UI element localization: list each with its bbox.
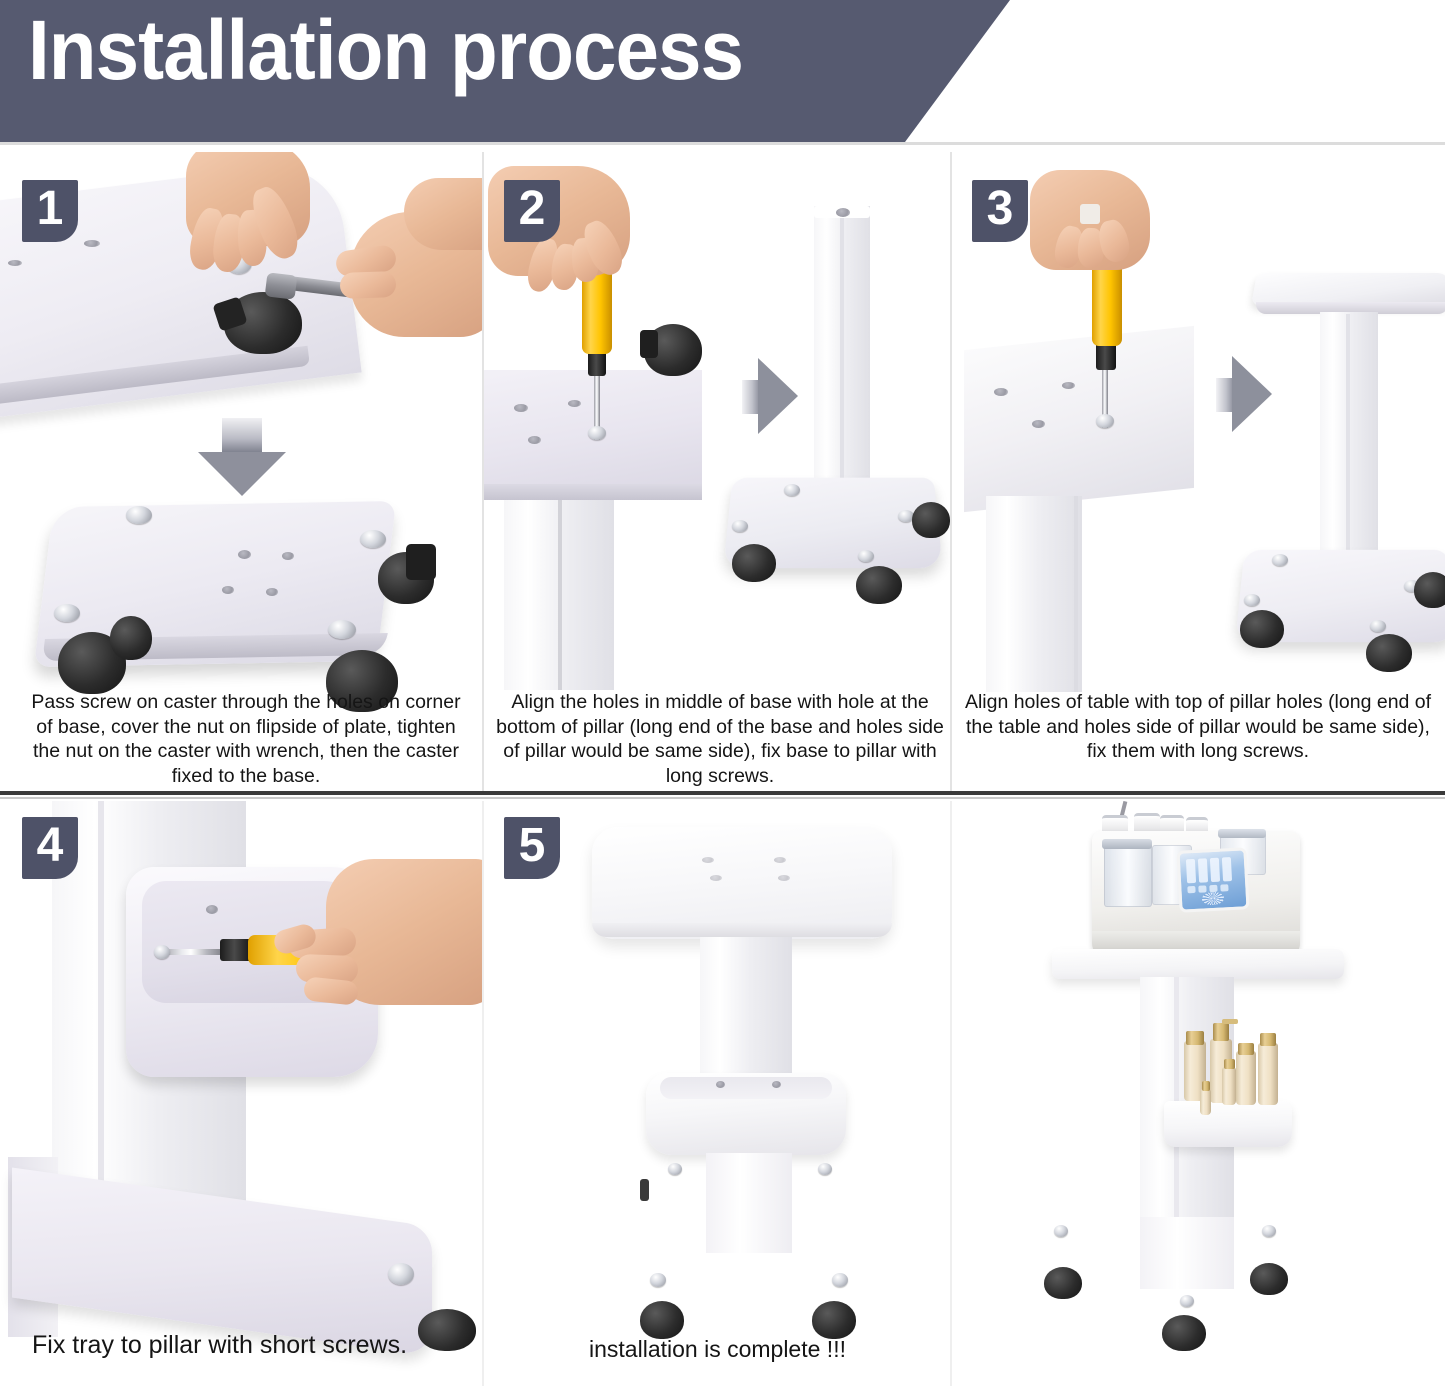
screw-icon — [858, 550, 874, 562]
caster-icon — [732, 544, 776, 582]
step-badge-5: 5 — [504, 817, 560, 879]
caster-icon — [1366, 634, 1412, 672]
screw-icon — [818, 1163, 832, 1175]
hole-icon — [994, 388, 1008, 396]
right-arrow-head-icon — [1232, 356, 1272, 432]
hole-icon — [266, 588, 278, 596]
grid-divider-horizontal-shadow — [0, 797, 1445, 799]
pillar-groove — [558, 500, 562, 690]
hole-icon — [514, 404, 528, 412]
step-badge-3: 3 — [972, 180, 1028, 242]
screen-key — [1198, 885, 1206, 892]
screw-icon — [1370, 620, 1386, 632]
table-top-edge — [592, 923, 892, 937]
step-caption-5: installation is complete !!! — [490, 1337, 945, 1362]
cosmetic-bottle-icon — [1236, 1051, 1256, 1105]
bottle-cap-icon — [1238, 1043, 1254, 1055]
screw-icon — [588, 426, 606, 440]
hole-icon — [282, 552, 294, 560]
bottle-pump-icon — [1213, 1023, 1229, 1041]
screw-icon — [360, 530, 386, 548]
hole-icon — [84, 240, 100, 247]
screw-icon — [154, 945, 170, 959]
caster-icon — [1414, 572, 1445, 608]
screen-dial — [1202, 891, 1225, 905]
finger-icon — [340, 271, 397, 299]
screen-bar — [1222, 857, 1232, 881]
step-4-illustration — [0, 801, 482, 1386]
pillar-top-hole-icon — [836, 208, 850, 217]
pillar-icon — [986, 496, 1082, 692]
final-product-panel — [952, 801, 1445, 1386]
caster-icon — [1250, 1263, 1288, 1295]
glass-jar-icon — [1104, 843, 1152, 907]
nail-icon — [1080, 204, 1100, 224]
pillar-groove — [1346, 314, 1350, 568]
caster-icon — [1162, 1315, 1206, 1351]
screw-icon — [1262, 1225, 1276, 1237]
cosmetic-bottle-icon — [1222, 1067, 1236, 1105]
screw-icon — [1180, 1295, 1194, 1307]
screw-icon — [1272, 554, 1288, 566]
trolley-table-top — [1052, 949, 1344, 979]
pillar-groove — [840, 218, 844, 498]
step-caption-4: Fix tray to pillar with short screws. — [10, 1333, 502, 1358]
hole-icon — [8, 260, 22, 266]
pillar-front-face — [1140, 1217, 1234, 1289]
hole-icon — [528, 436, 541, 444]
screw-icon — [1096, 414, 1114, 428]
screen-key — [1220, 884, 1228, 891]
serum-bottle-icon — [1200, 1089, 1211, 1115]
screen-bar — [1210, 858, 1220, 882]
hole-icon — [774, 857, 786, 863]
caster-icon — [640, 1301, 684, 1339]
hole-icon — [1032, 420, 1045, 428]
cosmetic-bottle-icon — [1258, 1043, 1278, 1105]
screen-key — [1187, 886, 1195, 893]
dropper-cap-icon — [1202, 1081, 1210, 1091]
screw-icon — [1244, 594, 1260, 606]
hole-icon — [568, 400, 581, 407]
screen-bar — [1186, 859, 1196, 883]
screw-icon — [1054, 1225, 1068, 1237]
brake-pedal-icon — [640, 1179, 649, 1201]
screw-icon — [54, 604, 80, 622]
bottle-cap-icon — [1260, 1033, 1276, 1046]
jar-cap-icon — [1102, 839, 1152, 849]
screw-icon — [784, 484, 800, 496]
tray-icon — [1164, 1101, 1292, 1147]
hole-icon — [772, 1081, 781, 1088]
down-arrow-icon — [222, 418, 262, 456]
hole-icon — [778, 875, 790, 881]
machine-screen-icon — [1176, 847, 1249, 913]
wrench-head-icon — [265, 272, 298, 299]
screw-icon — [732, 520, 748, 532]
screw-icon — [388, 1263, 414, 1285]
final-product-illustration — [952, 801, 1445, 1386]
caster-icon — [1240, 610, 1284, 648]
screw-icon — [126, 506, 152, 524]
down-arrow-head-icon — [198, 452, 286, 496]
page-header: Installation process — [0, 0, 1445, 142]
tray-screw-hole-icon — [206, 905, 218, 914]
hand-back-icon — [404, 178, 482, 250]
caster-icon — [912, 502, 950, 538]
bottle-cap-icon — [1186, 1031, 1204, 1045]
step-caption-1: Pass screw on caster through the holes o… — [22, 690, 470, 788]
hole-icon — [238, 550, 251, 559]
hole-icon — [716, 1081, 725, 1088]
caster-icon — [812, 1301, 856, 1339]
pillar-groove — [1074, 496, 1078, 692]
right-arrow-head-icon — [758, 358, 798, 434]
base-plate-front-edge — [484, 484, 702, 500]
screw-icon — [650, 1273, 666, 1287]
step-5-illustration — [484, 801, 950, 1386]
tray-inner-well — [660, 1077, 832, 1099]
pillar-front-face — [706, 1153, 792, 1253]
screw-icon — [832, 1273, 848, 1287]
page-title: Installation process — [28, 8, 743, 92]
caster-icon — [856, 566, 902, 604]
table-top-plate — [964, 326, 1194, 512]
caster-icon — [1044, 1267, 1082, 1299]
step-badge-4: 4 — [22, 817, 78, 879]
caster-icon — [110, 616, 152, 660]
caster-bracket — [640, 330, 658, 358]
caster-bracket — [406, 544, 436, 580]
hole-icon — [702, 857, 714, 863]
hole-icon — [1062, 382, 1075, 389]
jar-cap-icon — [1218, 829, 1266, 838]
step-caption-2: Align the holes in middle of base with h… — [496, 690, 944, 788]
pump-nozzle-icon — [1222, 1019, 1238, 1024]
step-panel-5: 5 — [484, 801, 950, 1386]
bottle-cap-icon — [1224, 1059, 1235, 1069]
screen-bar — [1198, 858, 1208, 882]
step-caption-3: Align holes of table with top of pillar … — [962, 690, 1434, 764]
step-badge-1: 1 — [22, 180, 78, 242]
screw-icon — [668, 1163, 682, 1175]
screw-icon — [328, 620, 356, 639]
step-panel-4: 4 — [0, 801, 482, 1386]
step-badge-2: 2 — [504, 180, 560, 242]
hole-icon — [710, 875, 722, 881]
hole-icon — [222, 586, 234, 594]
header-divider — [0, 142, 1445, 145]
